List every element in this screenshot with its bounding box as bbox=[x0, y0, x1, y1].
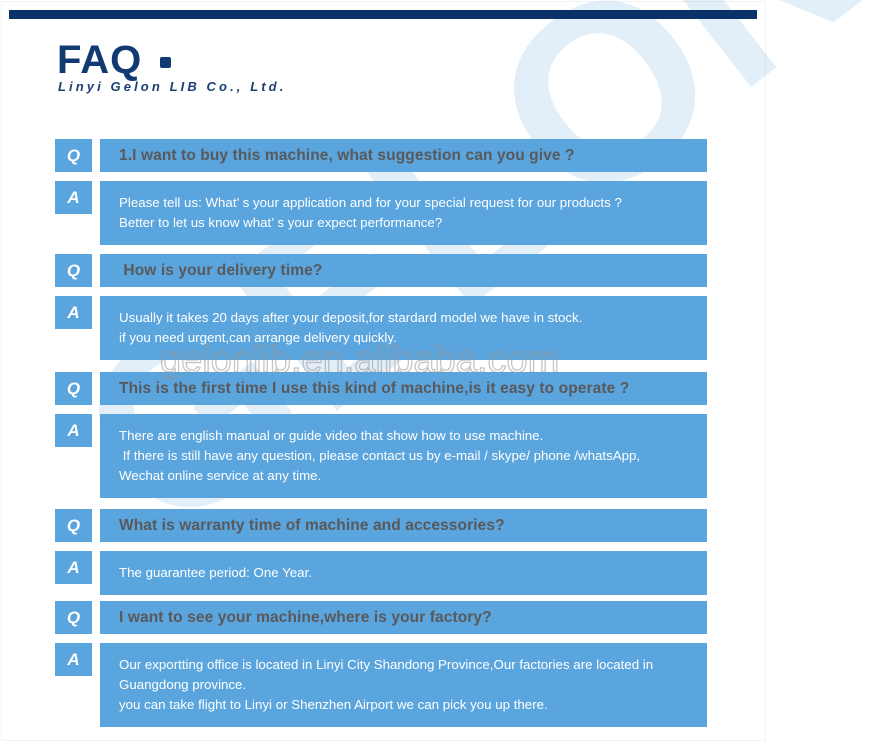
title-dot-icon bbox=[160, 57, 171, 68]
question-text: I want to see your machine,where is your… bbox=[119, 609, 492, 627]
answer-badge: A bbox=[55, 296, 92, 329]
answer-bar: The guarantee period: One Year. bbox=[100, 551, 707, 595]
question-badge: Q bbox=[55, 254, 92, 287]
company-subtitle: Linyi Gelon LIB Co., Ltd. bbox=[58, 79, 286, 94]
answer-badge: A bbox=[55, 414, 92, 447]
question-bar[interactable]: What is warranty time of machine and acc… bbox=[100, 509, 707, 542]
answer-line: The guarantee period: One Year. bbox=[119, 563, 693, 583]
answer-line: Please tell us: What’ s your application… bbox=[119, 193, 693, 213]
question-badge: Q bbox=[55, 139, 92, 172]
question-text: What is warranty time of machine and acc… bbox=[119, 517, 505, 535]
question-bar[interactable]: How is your delivery time? bbox=[100, 254, 707, 287]
answer-line: Better to let us know what’ s your expec… bbox=[119, 213, 693, 233]
answer-line: Our exportting office is located in Liny… bbox=[119, 655, 693, 675]
answer-bar: Please tell us: What’ s your application… bbox=[100, 181, 707, 245]
answer-badge: A bbox=[55, 551, 92, 584]
answer-bar: There are english manual or guide video … bbox=[100, 414, 707, 498]
question-badge: Q bbox=[55, 509, 92, 542]
page-title: FAQ bbox=[57, 38, 171, 82]
answer-line: There are english manual or guide video … bbox=[119, 426, 693, 446]
question-text: 1.I want to buy this machine, what sugge… bbox=[119, 147, 575, 165]
faq-page: GELON FAQ Linyi Gelon LIB Co., Ltd. Q1.I… bbox=[0, 0, 896, 752]
answer-line: If there is still have any question, ple… bbox=[119, 446, 693, 466]
answer-line: Wechat online service at any time. bbox=[119, 466, 693, 486]
answer-line: Usually it takes 20 days after your depo… bbox=[119, 308, 693, 328]
page-title-text: FAQ bbox=[57, 38, 142, 82]
question-badge: Q bbox=[55, 372, 92, 405]
question-bar[interactable]: 1.I want to buy this machine, what sugge… bbox=[100, 139, 707, 172]
question-bar[interactable]: I want to see your machine,where is your… bbox=[100, 601, 707, 634]
answer-badge: A bbox=[55, 181, 92, 214]
url-watermark: gelonlib.en.alibaba.com bbox=[160, 339, 559, 382]
question-badge: Q bbox=[55, 601, 92, 634]
answer-line: Guangdong province. bbox=[119, 675, 693, 695]
header-rule bbox=[9, 10, 757, 19]
answer-badge: A bbox=[55, 643, 92, 676]
question-text: This is the first time I use this kind o… bbox=[119, 380, 629, 398]
answer-line: you can take flight to Linyi or Shenzhen… bbox=[119, 695, 693, 715]
question-text: How is your delivery time? bbox=[119, 262, 322, 280]
answer-bar: Our exportting office is located in Liny… bbox=[100, 643, 707, 727]
